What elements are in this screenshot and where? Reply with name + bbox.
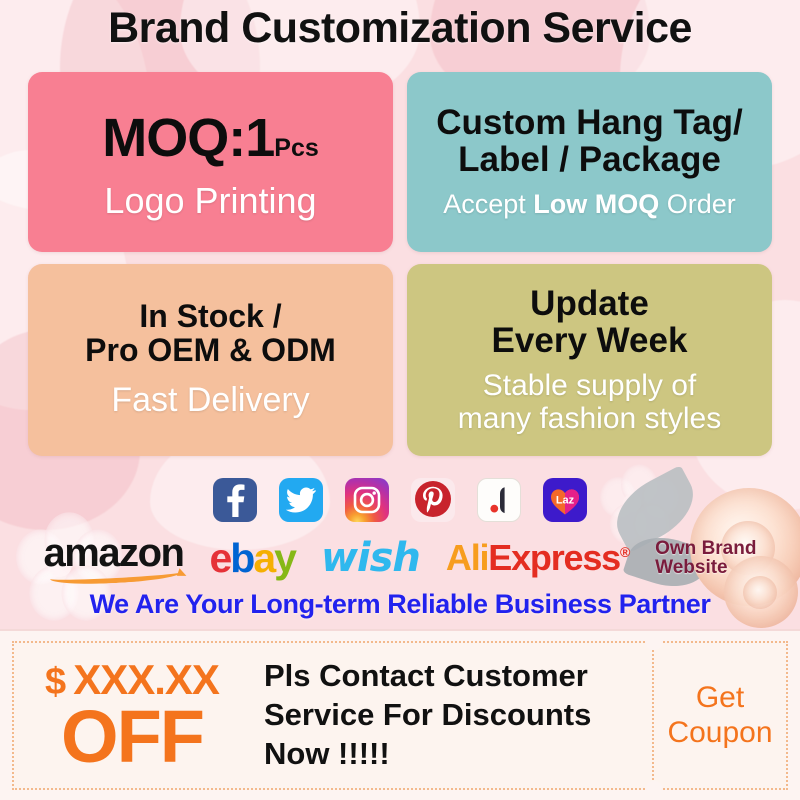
get-coupon-line2: Coupon: [667, 716, 772, 751]
ebay-letter-y: y: [274, 535, 295, 581]
ebay-letter-b: b: [230, 535, 253, 581]
marketplace-logo-row: amazon ebay wish AliExpress® Own Brand W…: [0, 533, 800, 583]
card-hang-tag-sub-post: Order: [659, 189, 736, 219]
card-hang-tag-heading-line1: Custom Hang Tag/: [436, 104, 743, 141]
card-moq-subtext: Logo Printing: [104, 181, 316, 221]
lazada-icon[interactable]: Laz: [543, 478, 587, 522]
card-hang-tag-subtext: Accept Low MOQ Order: [443, 190, 736, 220]
card-hang-tag-heading: Custom Hang Tag/ Label / Package: [436, 104, 743, 178]
amazon-logo[interactable]: amazon: [44, 533, 184, 583]
own-brand-line2: Website: [655, 558, 756, 577]
svg-text:Laz: Laz: [556, 494, 575, 506]
card-moq-unit: Pcs: [274, 134, 318, 162]
own-brand-line1: Own Brand: [655, 539, 756, 558]
card-hang-tag-heading-line2: Label / Package: [436, 141, 743, 178]
card-update-sub-line1: Stable supply of: [458, 369, 721, 402]
own-brand-website-label[interactable]: Own Brand Website: [655, 539, 756, 578]
feature-card-update[interactable]: Update Every Week Stable supply of many …: [407, 264, 772, 456]
twitter-icon[interactable]: [279, 478, 323, 522]
facebook-icon[interactable]: [213, 478, 257, 522]
promo-banner: Brand Customization Service MOQ:1Pcs Log…: [0, 0, 800, 800]
card-update-heading: Update Every Week: [492, 285, 688, 359]
get-coupon-button[interactable]: Get Coupon: [654, 643, 786, 788]
coupon-price-block: $XXX.XX OFF: [14, 643, 250, 788]
get-coupon-line1: Get: [667, 681, 772, 716]
get-coupon-text: Get Coupon: [667, 681, 772, 750]
instagram-icon[interactable]: [345, 478, 389, 522]
feature-card-grid: MOQ:1Pcs Logo Printing Custom Hang Tag/ …: [28, 72, 772, 456]
coupon-section: $XXX.XX OFF Pls Contact Customer Service…: [0, 629, 800, 800]
coupon-off-label: OFF: [61, 703, 203, 771]
feature-card-hang-tag[interactable]: Custom Hang Tag/ Label / Package Accept …: [407, 72, 772, 252]
card-in-stock-subtext: Fast Delivery: [111, 382, 309, 419]
aliexpress-trademark-icon: ®: [620, 544, 629, 560]
coupon-ticket[interactable]: $XXX.XX OFF Pls Contact Customer Service…: [12, 641, 788, 790]
ebay-letter-a: a: [253, 535, 274, 581]
card-update-sub-line2: many fashion styles: [458, 402, 721, 435]
page-title: Brand Customization Service: [0, 4, 800, 53]
card-moq-heading: MOQ:1Pcs: [102, 110, 319, 167]
card-in-stock-heading-line2: Pro OEM & ODM: [85, 334, 336, 368]
feature-card-moq[interactable]: MOQ:1Pcs Logo Printing: [28, 72, 393, 252]
card-in-stock-heading-line1: In Stock /: [85, 300, 336, 334]
coupon-message-line3: Now !!!!!: [264, 735, 652, 774]
card-moq-value: MOQ:1: [102, 108, 274, 168]
wish-logo[interactable]: wish: [321, 538, 420, 578]
coupon-notch-top-icon: [645, 632, 663, 650]
aliexpress-ali-text: Ali: [446, 537, 488, 578]
coupon-perforation-divider: [652, 643, 654, 788]
feature-card-in-stock[interactable]: In Stock / Pro OEM & ODM Fast Delivery: [28, 264, 393, 456]
card-update-subtext: Stable supply of many fashion styles: [458, 369, 721, 435]
social-icon-row: Laz: [0, 478, 800, 522]
tagline-text: We Are Your Long-term Reliable Business …: [0, 589, 800, 620]
card-in-stock-heading: In Stock / Pro OEM & ODM: [85, 300, 336, 368]
aliexpress-logo[interactable]: AliExpress®: [446, 540, 629, 576]
coupon-message-line2: Service For Discounts: [264, 696, 652, 735]
ebay-logo[interactable]: ebay: [209, 538, 294, 579]
coupon-message: Pls Contact Customer Service For Discoun…: [250, 643, 652, 788]
ebay-letter-e: e: [209, 535, 230, 581]
card-hang-tag-sub-pre: Accept: [443, 189, 533, 219]
pinterest-icon[interactable]: [411, 478, 455, 522]
aliexpress-express-text: Express: [488, 537, 620, 578]
card-update-heading-line1: Update: [492, 285, 688, 322]
coupon-notch-bottom-icon: [645, 781, 663, 799]
coupon-message-line1: Pls Contact Customer: [264, 657, 652, 696]
joom-icon[interactable]: [477, 478, 521, 522]
card-update-heading-line2: Every Week: [492, 322, 688, 359]
card-hang-tag-sub-strong: Low MOQ: [533, 189, 659, 219]
